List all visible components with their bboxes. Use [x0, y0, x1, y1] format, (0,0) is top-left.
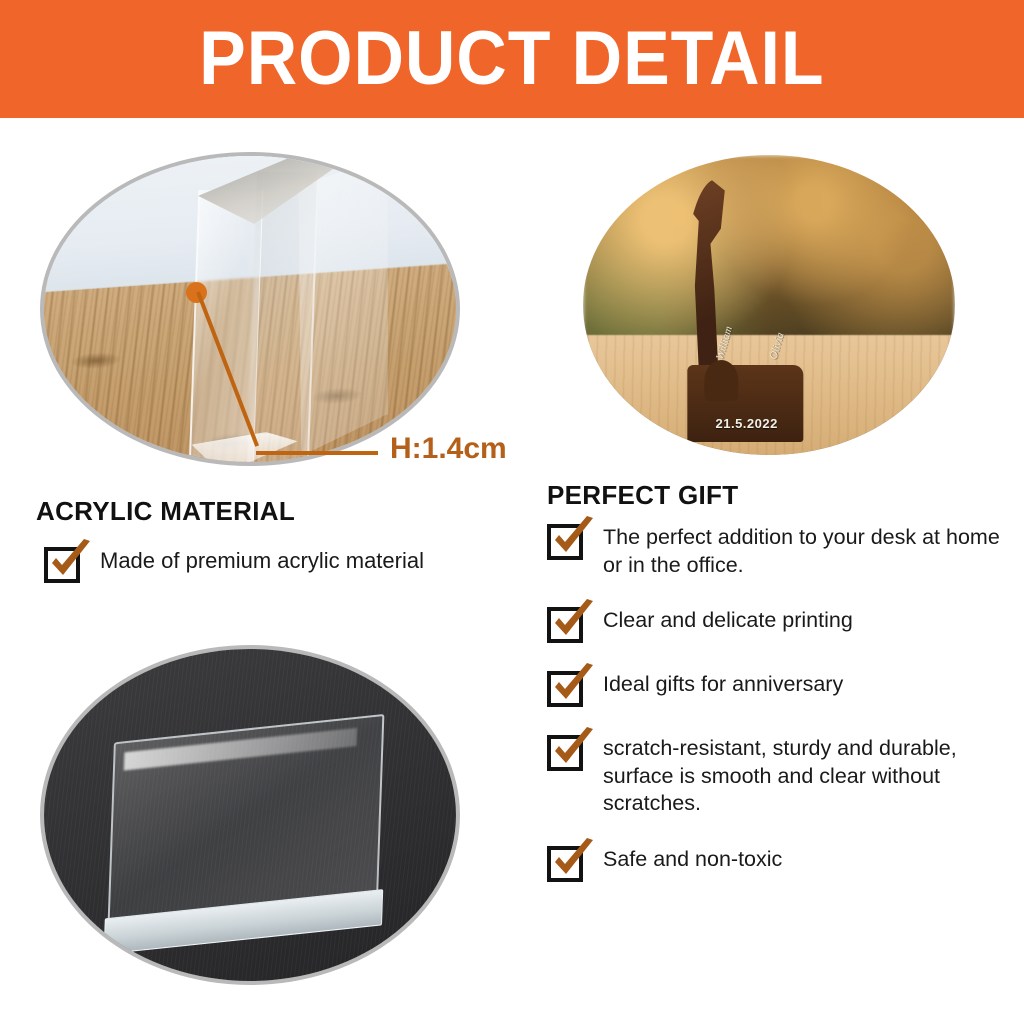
checkbox-checked-icon: [44, 547, 80, 583]
checkmark-icon: [549, 599, 597, 647]
callout-leader-line-horizontal: [256, 451, 378, 455]
list-item-label: scratch-resistant, sturdy and durable, s…: [603, 733, 1007, 818]
list-item: Made of premium acrylic material: [44, 545, 514, 583]
checkmark-icon: [549, 516, 597, 564]
acrylic-slab: [107, 714, 384, 923]
list-item-label: The perfect addition to your desk at hom…: [603, 522, 1007, 579]
sculpture-figure-group: William Olivia 21.5.2022: [676, 179, 817, 437]
acrylic-front-face: [188, 190, 263, 466]
acrylic-block: [188, 152, 318, 466]
photo-acrylic-slab: [40, 645, 460, 985]
checkmark-icon: [46, 539, 94, 587]
engraved-date: 21.5.2022: [715, 416, 777, 431]
list-item-label: Made of premium acrylic material: [100, 545, 424, 575]
wood-knot: [69, 352, 122, 372]
header-banner: PRODUCT DETAIL: [0, 0, 1024, 118]
list-item: Ideal gifts for anniversary: [547, 669, 1007, 707]
wood-floor-scene: [44, 156, 456, 462]
list-item-label: Ideal gifts for anniversary: [603, 669, 843, 699]
checkbox-checked-icon: [547, 524, 583, 560]
checkmark-icon: [549, 838, 597, 886]
page-title: PRODUCT DETAIL: [199, 21, 824, 97]
sculpture-figure-left: [684, 179, 749, 370]
checkmark-icon: [549, 663, 597, 711]
height-callout-label: H:1.4cm: [390, 432, 507, 466]
list-item: Clear and delicate printing: [547, 605, 1007, 643]
list-item: scratch-resistant, sturdy and durable, s…: [547, 733, 1007, 818]
heading-acrylic-material: ACRYLIC MATERIAL: [36, 496, 295, 527]
bullet-list-acrylic: Made of premium acrylic material: [44, 545, 514, 609]
list-item: The perfect addition to your desk at hom…: [547, 522, 1007, 579]
heading-perfect-gift: PERFECT GIFT: [547, 480, 738, 511]
checkbox-checked-icon: [547, 671, 583, 707]
bullet-list-perfect-gift: The perfect addition to your desk at hom…: [547, 522, 1007, 908]
engraved-name-left: William: [714, 325, 735, 361]
list-item: Safe and non-toxic: [547, 844, 1007, 882]
photo-wooden-sculpture: William Olivia 21.5.2022: [583, 155, 955, 455]
list-item-label: Safe and non-toxic: [603, 844, 782, 874]
sculpture-heart-icon: [704, 360, 738, 401]
checkmark-icon: [549, 727, 597, 775]
list-item-label: Clear and delicate printing: [603, 605, 853, 635]
checkbox-checked-icon: [547, 846, 583, 882]
photo-acrylic-edge: [40, 152, 460, 466]
checkbox-checked-icon: [547, 735, 583, 771]
checkbox-checked-icon: [547, 607, 583, 643]
product-detail-page: PRODUCT DETAIL H:1.4cm: [0, 0, 1024, 1024]
slate-background: [44, 649, 456, 981]
